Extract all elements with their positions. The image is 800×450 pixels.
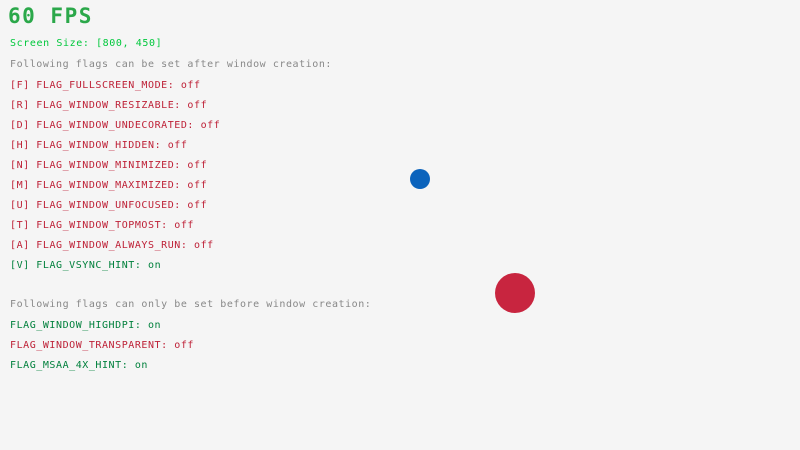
flag-name: FLAG_VSYNC_HINT:	[36, 260, 148, 271]
flag-shortcut-key: [M]	[10, 180, 36, 191]
flag-shortcut-key: [V]	[10, 260, 36, 271]
flag-value: off	[187, 200, 207, 211]
flag-value: on	[148, 260, 161, 271]
flag-shortcut-key: [N]	[10, 160, 36, 171]
fps-counter: 60 FPS	[8, 6, 93, 27]
flag-name: FLAG_FULLSCREEN_MODE:	[36, 80, 181, 91]
flag-value: off	[181, 80, 201, 91]
runtime-flags-heading: Following flags can be set after window …	[10, 59, 332, 71]
flag-row[interactable]: [D] FLAG_WINDOW_UNDECORATED: off	[10, 120, 220, 132]
flag-row: FLAG_WINDOW_TRANSPARENT: off	[10, 340, 194, 352]
raylib-window: 60 FPS Screen Size: [800, 450] Following…	[0, 0, 800, 450]
flag-row[interactable]: [H] FLAG_WINDOW_HIDDEN: off	[10, 140, 187, 152]
flag-name: FLAG_WINDOW_MAXIMIZED:	[36, 180, 187, 191]
flag-shortcut-key: [D]	[10, 120, 36, 131]
flag-name: FLAG_WINDOW_ALWAYS_RUN:	[36, 240, 194, 251]
flag-value: off	[174, 220, 194, 231]
flag-shortcut-key: [H]	[10, 140, 36, 151]
flag-row[interactable]: [U] FLAG_WINDOW_UNFOCUSED: off	[10, 200, 207, 212]
flag-name: FLAG_WINDOW_HIDDEN:	[36, 140, 167, 151]
circle-maroon-shape	[495, 273, 535, 313]
flag-name: FLAG_MSAA_4X_HINT:	[10, 360, 135, 371]
startup-flags-heading: Following flags can only be set before w…	[10, 299, 371, 311]
flag-value: off	[201, 120, 221, 131]
flag-name: FLAG_WINDOW_HIGHDPI:	[10, 320, 148, 331]
flag-shortcut-key: [T]	[10, 220, 36, 231]
flag-value: off	[187, 100, 207, 111]
flag-row[interactable]: [F] FLAG_FULLSCREEN_MODE: off	[10, 80, 201, 92]
flag-name: FLAG_WINDOW_TOPMOST:	[36, 220, 174, 231]
flag-name: FLAG_WINDOW_MINIMIZED:	[36, 160, 187, 171]
flag-row[interactable]: [A] FLAG_WINDOW_ALWAYS_RUN: off	[10, 240, 214, 252]
flag-shortcut-key: [A]	[10, 240, 36, 251]
flag-shortcut-key: [F]	[10, 80, 36, 91]
flag-shortcut-key: [R]	[10, 100, 36, 111]
flag-value: on	[135, 360, 148, 371]
flag-value: off	[187, 160, 207, 171]
flag-row: FLAG_MSAA_4X_HINT: on	[10, 360, 148, 372]
circle-blue-shape	[410, 169, 430, 189]
flag-value: off	[168, 140, 188, 151]
flag-value: off	[187, 180, 207, 191]
flag-shortcut-key: [U]	[10, 200, 36, 211]
flag-value: off	[194, 240, 214, 251]
flag-row[interactable]: [R] FLAG_WINDOW_RESIZABLE: off	[10, 100, 207, 112]
flag-row[interactable]: [N] FLAG_WINDOW_MINIMIZED: off	[10, 160, 207, 172]
flag-row: FLAG_WINDOW_HIGHDPI: on	[10, 320, 161, 332]
flag-value: on	[148, 320, 161, 331]
flag-name: FLAG_WINDOW_UNDECORATED:	[36, 120, 200, 131]
flag-row[interactable]: [M] FLAG_WINDOW_MAXIMIZED: off	[10, 180, 207, 192]
flag-row[interactable]: [V] FLAG_VSYNC_HINT: on	[10, 260, 161, 272]
screen-size-label: Screen Size: [800, 450]	[10, 38, 162, 50]
flag-name: FLAG_WINDOW_TRANSPARENT:	[10, 340, 174, 351]
flag-value: off	[174, 340, 194, 351]
flag-name: FLAG_WINDOW_UNFOCUSED:	[36, 200, 187, 211]
flag-row[interactable]: [T] FLAG_WINDOW_TOPMOST: off	[10, 220, 194, 232]
flag-name: FLAG_WINDOW_RESIZABLE:	[36, 100, 187, 111]
